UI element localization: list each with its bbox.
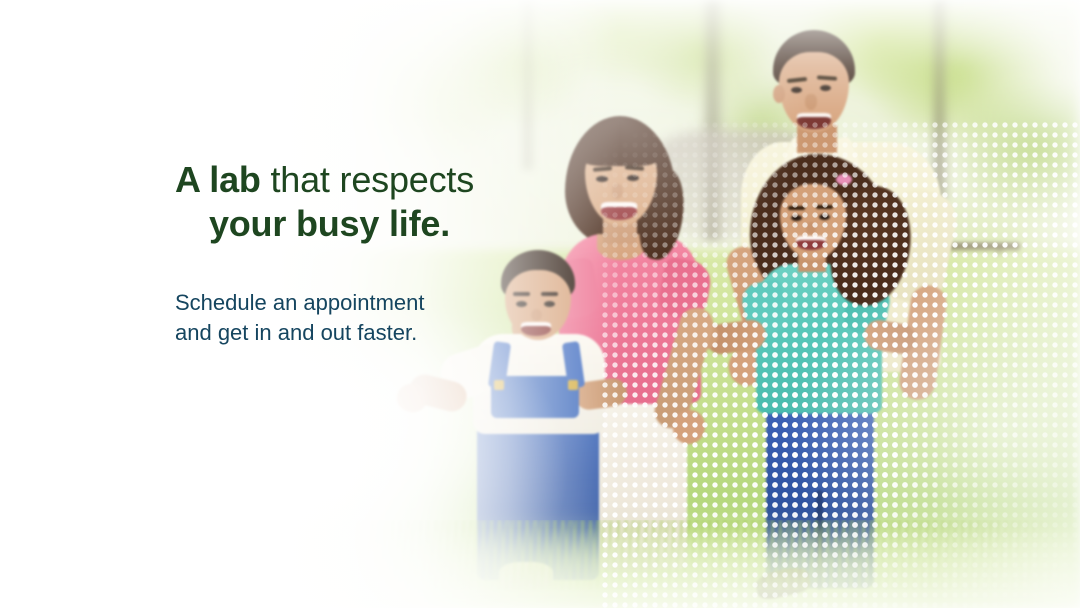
- subcopy-line-two: and get in and out faster.: [175, 318, 505, 348]
- mother-eye: [596, 176, 608, 182]
- headline-emphasis: A lab: [175, 159, 261, 200]
- hero-subcopy: Schedule an appointment and get in and o…: [175, 288, 505, 348]
- girl-eye: [819, 214, 830, 220]
- girl-smile: [796, 236, 826, 250]
- subcopy-line-one: Schedule an appointment: [175, 288, 505, 318]
- girl-hair-clip: [836, 174, 852, 185]
- mother-fringe: [577, 132, 663, 166]
- father-eye: [820, 85, 831, 91]
- father-eye: [791, 87, 802, 93]
- boy-overall-buckle: [494, 380, 504, 390]
- hero-banner: A lab that respectsyour busy life. Sched…: [0, 0, 1080, 608]
- hero-photograph: [0, 0, 1080, 608]
- father-smile: [797, 113, 831, 129]
- girl-eye: [791, 215, 802, 221]
- girl-nose: [806, 222, 816, 235]
- boy-eye: [544, 301, 555, 307]
- mother-smile: [601, 202, 637, 220]
- person-girl: [740, 150, 915, 560]
- boy-nose: [531, 309, 542, 321]
- mother-nose: [612, 184, 623, 199]
- boy-eye: [516, 301, 527, 307]
- boy-overall-buckle: [568, 380, 578, 390]
- boy-smile: [521, 322, 551, 336]
- girl-eyebrow: [788, 206, 805, 210]
- foreground-blur: [0, 518, 1080, 608]
- father-nose: [805, 94, 817, 110]
- hero-copy-block: A lab that respectsyour busy life. Sched…: [175, 158, 505, 348]
- boy-eyebrow: [513, 292, 530, 296]
- boy-eyebrow: [541, 292, 558, 296]
- headline-rest: that respects: [261, 159, 474, 200]
- father-ear: [773, 85, 785, 103]
- headline-line-two: your busy life.: [175, 202, 450, 246]
- page-title: A lab that respectsyour busy life.: [175, 158, 505, 246]
- mother-eye: [627, 175, 639, 181]
- girl-eyebrow: [816, 205, 833, 209]
- family-group: [0, 0, 1080, 608]
